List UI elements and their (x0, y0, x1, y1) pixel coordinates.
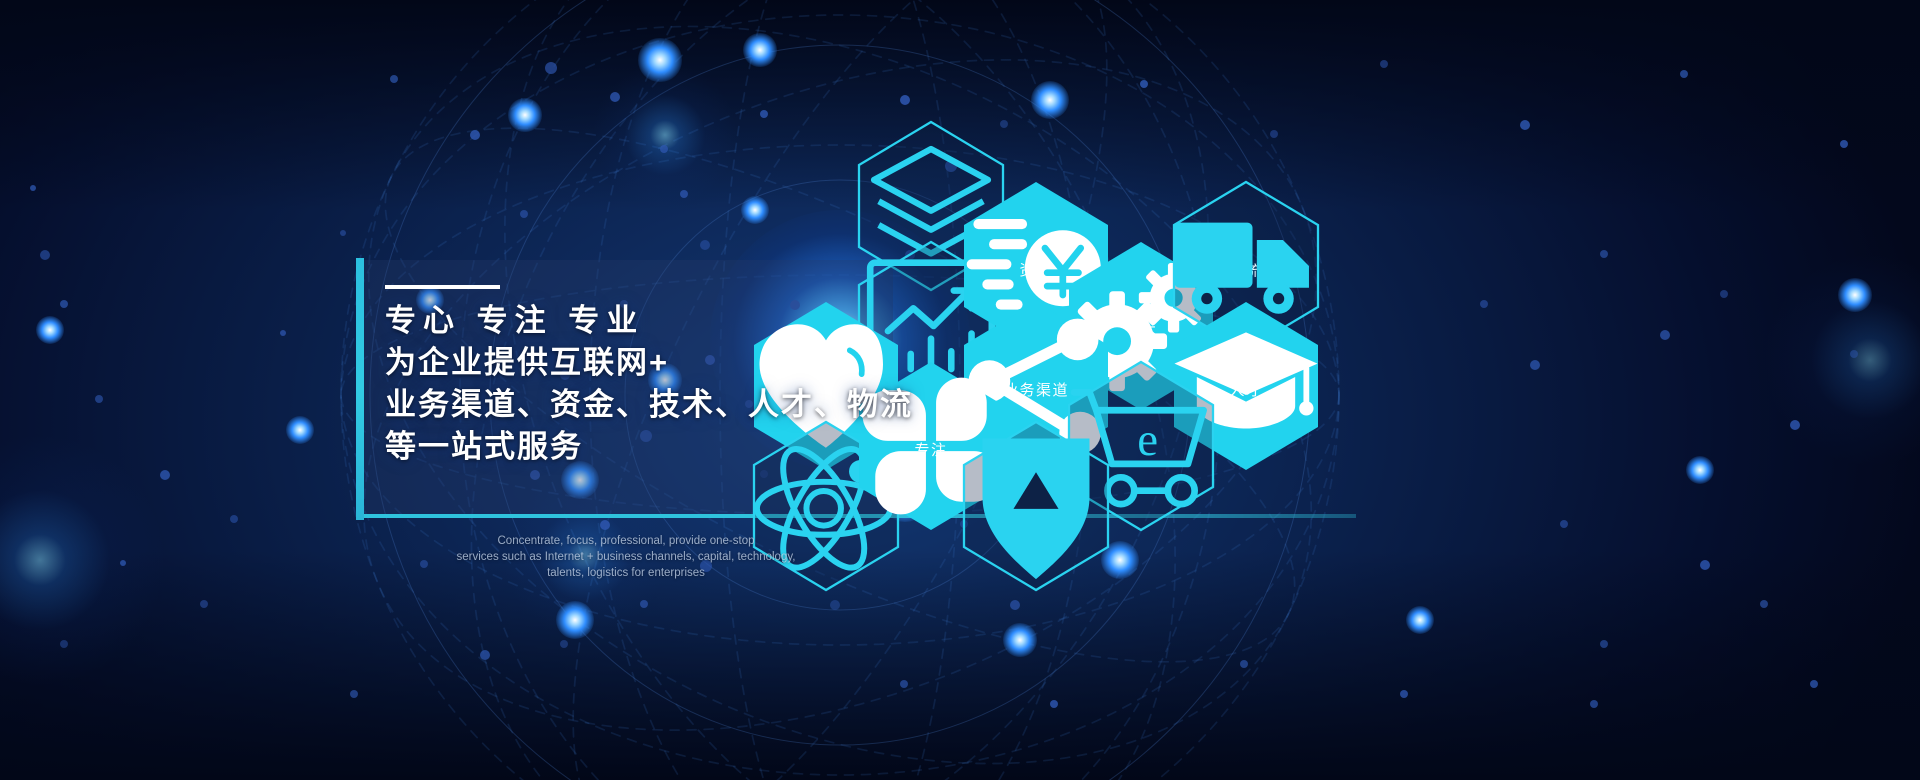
svg-text:e: e (1137, 414, 1158, 466)
subtitle-line-3: talents, logistics for enterprises (356, 565, 896, 581)
panel-accent-bar (356, 258, 364, 520)
headline-text: 专心 专注 专业 为企业提供互联网+ 业务渠道、资金、技术、人才、物流 等一站式… (385, 300, 1005, 468)
headline-line-2: 为企业提供互联网+ (385, 342, 1005, 384)
banner-stage: 专心 专注 专业 为企业提供互联网+ 业务渠道、资金、技术、人才、物流 等一站式… (0, 0, 1920, 780)
subtitle-text: Concentrate, focus, professional, provid… (356, 533, 896, 581)
subtitle-line-1: Concentrate, focus, professional, provid… (356, 533, 896, 549)
subtitle-line-2: services such as Internet + business cha… (356, 549, 896, 565)
headline-line-4: 等一站式服务 (385, 426, 1005, 468)
panel-top-rule (385, 285, 500, 289)
headline-line-3: 业务渠道、资金、技术、人才、物流 (385, 384, 1005, 426)
headline-line-1: 专心 专注 专业 (385, 300, 1005, 342)
